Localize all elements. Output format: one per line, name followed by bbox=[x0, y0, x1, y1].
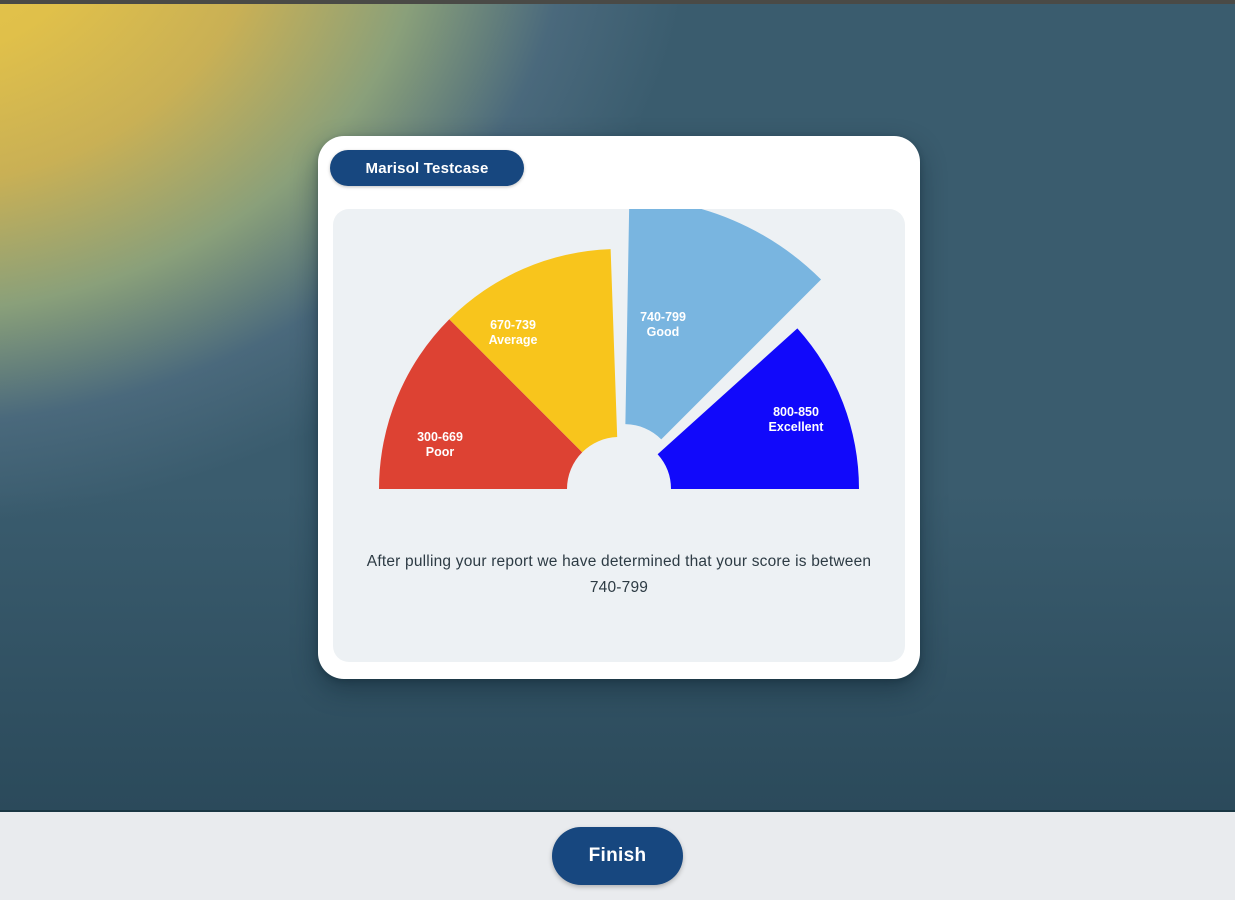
gauge-segment-label-average: 670-739Average bbox=[489, 318, 538, 347]
footer-bar: Finish bbox=[0, 812, 1235, 900]
score-result-caption: After pulling your report we have determ… bbox=[353, 549, 885, 601]
gauge-svg: 300-669Poor670-739Average740-799Good800-… bbox=[333, 209, 905, 539]
score-card: Marisol Testcase 300-669Poor670-739Avera… bbox=[318, 136, 920, 679]
app-window: Marisol Testcase 300-669Poor670-739Avera… bbox=[0, 0, 1235, 900]
gauge-segment-label-good: 740-799Good bbox=[640, 310, 686, 339]
finish-button[interactable]: Finish bbox=[552, 827, 683, 885]
gauge-segment-label-excellent: 800-850Excellent bbox=[769, 405, 825, 434]
credit-score-gauge: 300-669Poor670-739Average740-799Good800-… bbox=[333, 209, 905, 539]
customer-name-badge: Marisol Testcase bbox=[330, 150, 524, 186]
gauge-panel: 300-669Poor670-739Average740-799Good800-… bbox=[333, 209, 905, 662]
